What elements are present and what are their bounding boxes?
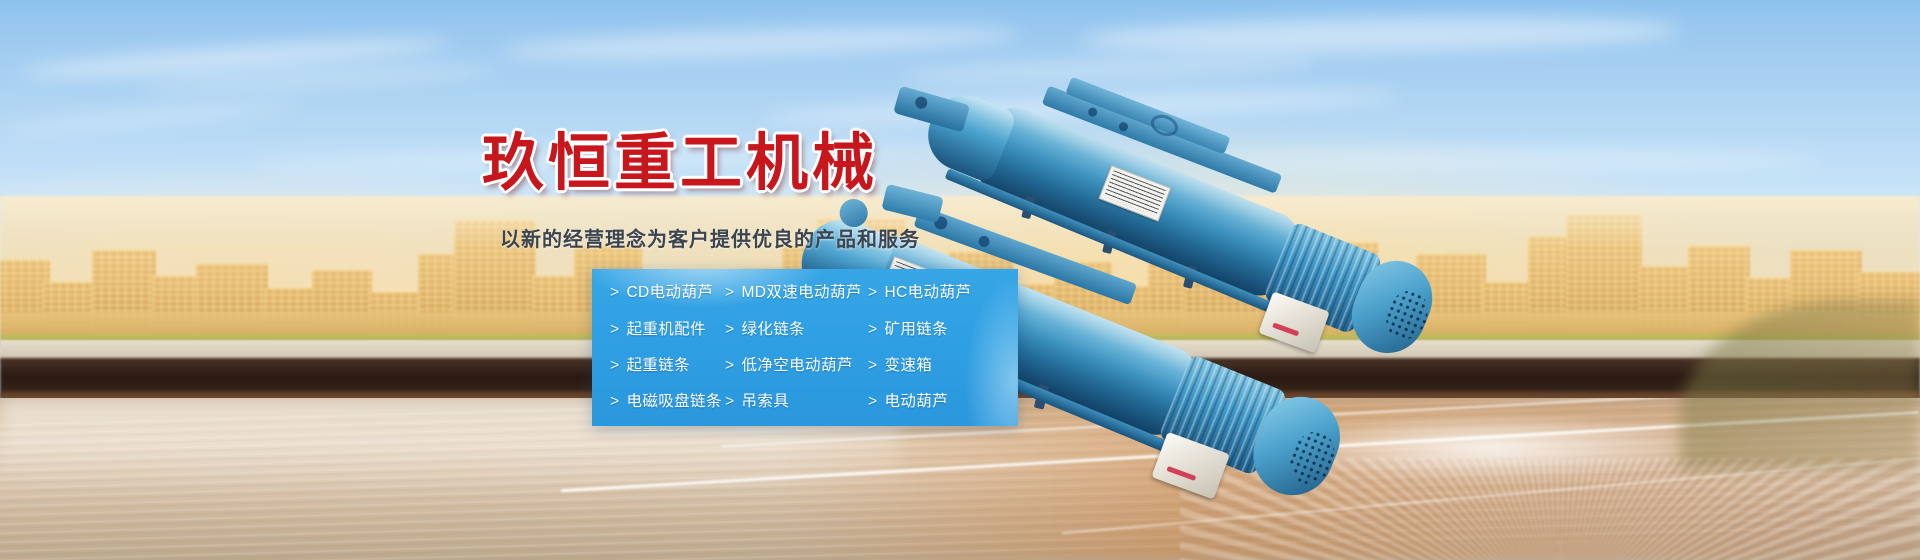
- product-links-panel: >CD电动葫芦 >MD双速电动葫芦 >HC电动葫芦 >起重机配件 >绿化链条 >…: [592, 269, 1018, 426]
- product-link-label: 低净空电动葫芦: [741, 357, 852, 374]
- product-link-label: 绿化链条: [741, 321, 805, 338]
- product-link-label: 起重机配件: [626, 321, 706, 338]
- product-link-label: 起重链条: [626, 357, 690, 374]
- chevron-right-icon: >: [868, 284, 877, 301]
- product-link-low-headroom-hoist[interactable]: >低净空电动葫芦: [725, 358, 868, 374]
- cloud-wisp: [1200, 150, 1820, 170]
- product-link-gearbox[interactable]: >变速箱: [868, 358, 1036, 374]
- chevron-right-icon: >: [610, 393, 619, 410]
- product-link-lifting-chain[interactable]: >起重链条: [610, 358, 725, 374]
- product-link-label: 电动葫芦: [884, 393, 948, 410]
- chevron-right-icon: >: [868, 321, 877, 338]
- chevron-right-icon: >: [725, 357, 734, 374]
- page-title: 玖恒重工机械: [482, 112, 878, 202]
- product-link-magnetic-chuck-chain[interactable]: >电磁吸盘链条: [610, 394, 725, 410]
- product-link-label: HC电动葫芦: [884, 284, 971, 301]
- product-link-electric-hoist[interactable]: >电动葫芦: [868, 394, 1036, 410]
- product-link-slings[interactable]: >吊索具: [725, 394, 868, 410]
- product-link-label: 电磁吸盘链条: [626, 393, 721, 410]
- chevron-right-icon: >: [610, 284, 619, 301]
- chevron-right-icon: >: [610, 357, 619, 374]
- hero-banner: 玖恒重工机械 以新的经营理念为客户提供优良的产品和服务 >CD电动葫芦 >MD双…: [0, 0, 1920, 560]
- chevron-right-icon: >: [725, 321, 734, 338]
- product-link-label: CD电动葫芦: [626, 284, 713, 301]
- chevron-right-icon: >: [610, 321, 619, 338]
- product-link-md-dual-speed-hoist[interactable]: >MD双速电动葫芦: [725, 285, 868, 301]
- chevron-right-icon: >: [868, 357, 877, 374]
- chevron-right-icon: >: [725, 393, 734, 410]
- product-link-cd-hoist[interactable]: >CD电动葫芦: [610, 285, 725, 301]
- product-link-label: 吊索具: [741, 393, 789, 410]
- product-link-crane-parts[interactable]: >起重机配件: [610, 322, 725, 338]
- product-link-hc-hoist[interactable]: >HC电动葫芦: [868, 285, 1036, 301]
- product-link-label: 矿用链条: [884, 321, 948, 338]
- chevron-right-icon: >: [725, 284, 734, 301]
- page-subtitle: 以新的经营理念为客户提供优良的产品和服务: [500, 223, 920, 252]
- product-link-label: MD双速电动葫芦: [741, 284, 861, 301]
- product-link-label: 变速箱: [884, 357, 932, 374]
- product-links-grid: >CD电动葫芦 >MD双速电动葫芦 >HC电动葫芦 >起重机配件 >绿化链条 >…: [592, 269, 1018, 426]
- product-link-greening-chain[interactable]: >绿化链条: [725, 322, 868, 338]
- product-link-mining-chain[interactable]: >矿用链条: [868, 322, 1036, 338]
- chevron-right-icon: >: [868, 393, 877, 410]
